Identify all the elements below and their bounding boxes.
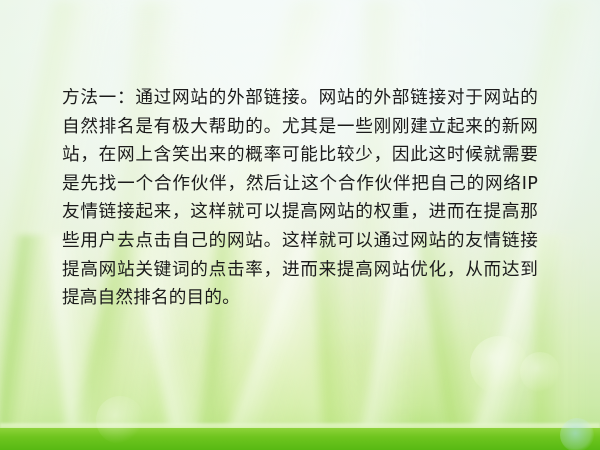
- bokeh-highlight: [520, 352, 560, 392]
- background-light-seam: [0, 423, 600, 430]
- bokeh-highlight: [96, 396, 144, 444]
- bokeh-highlight: [470, 336, 528, 394]
- bokeh-highlight-blue: [560, 418, 594, 450]
- slide-text-block: 方法一：通过网站的外部链接。网站的外部链接对于网站的自然排名是有极大帮助的。尤其…: [62, 84, 538, 313]
- body-paragraph: 方法一：通过网站的外部链接。网站的外部链接对于网站的自然排名是有极大帮助的。尤其…: [62, 84, 538, 313]
- slide-canvas: 方法一：通过网站的外部链接。网站的外部链接对于网站的自然排名是有极大帮助的。尤其…: [0, 0, 600, 450]
- background-bottom-grass-band: [0, 428, 600, 450]
